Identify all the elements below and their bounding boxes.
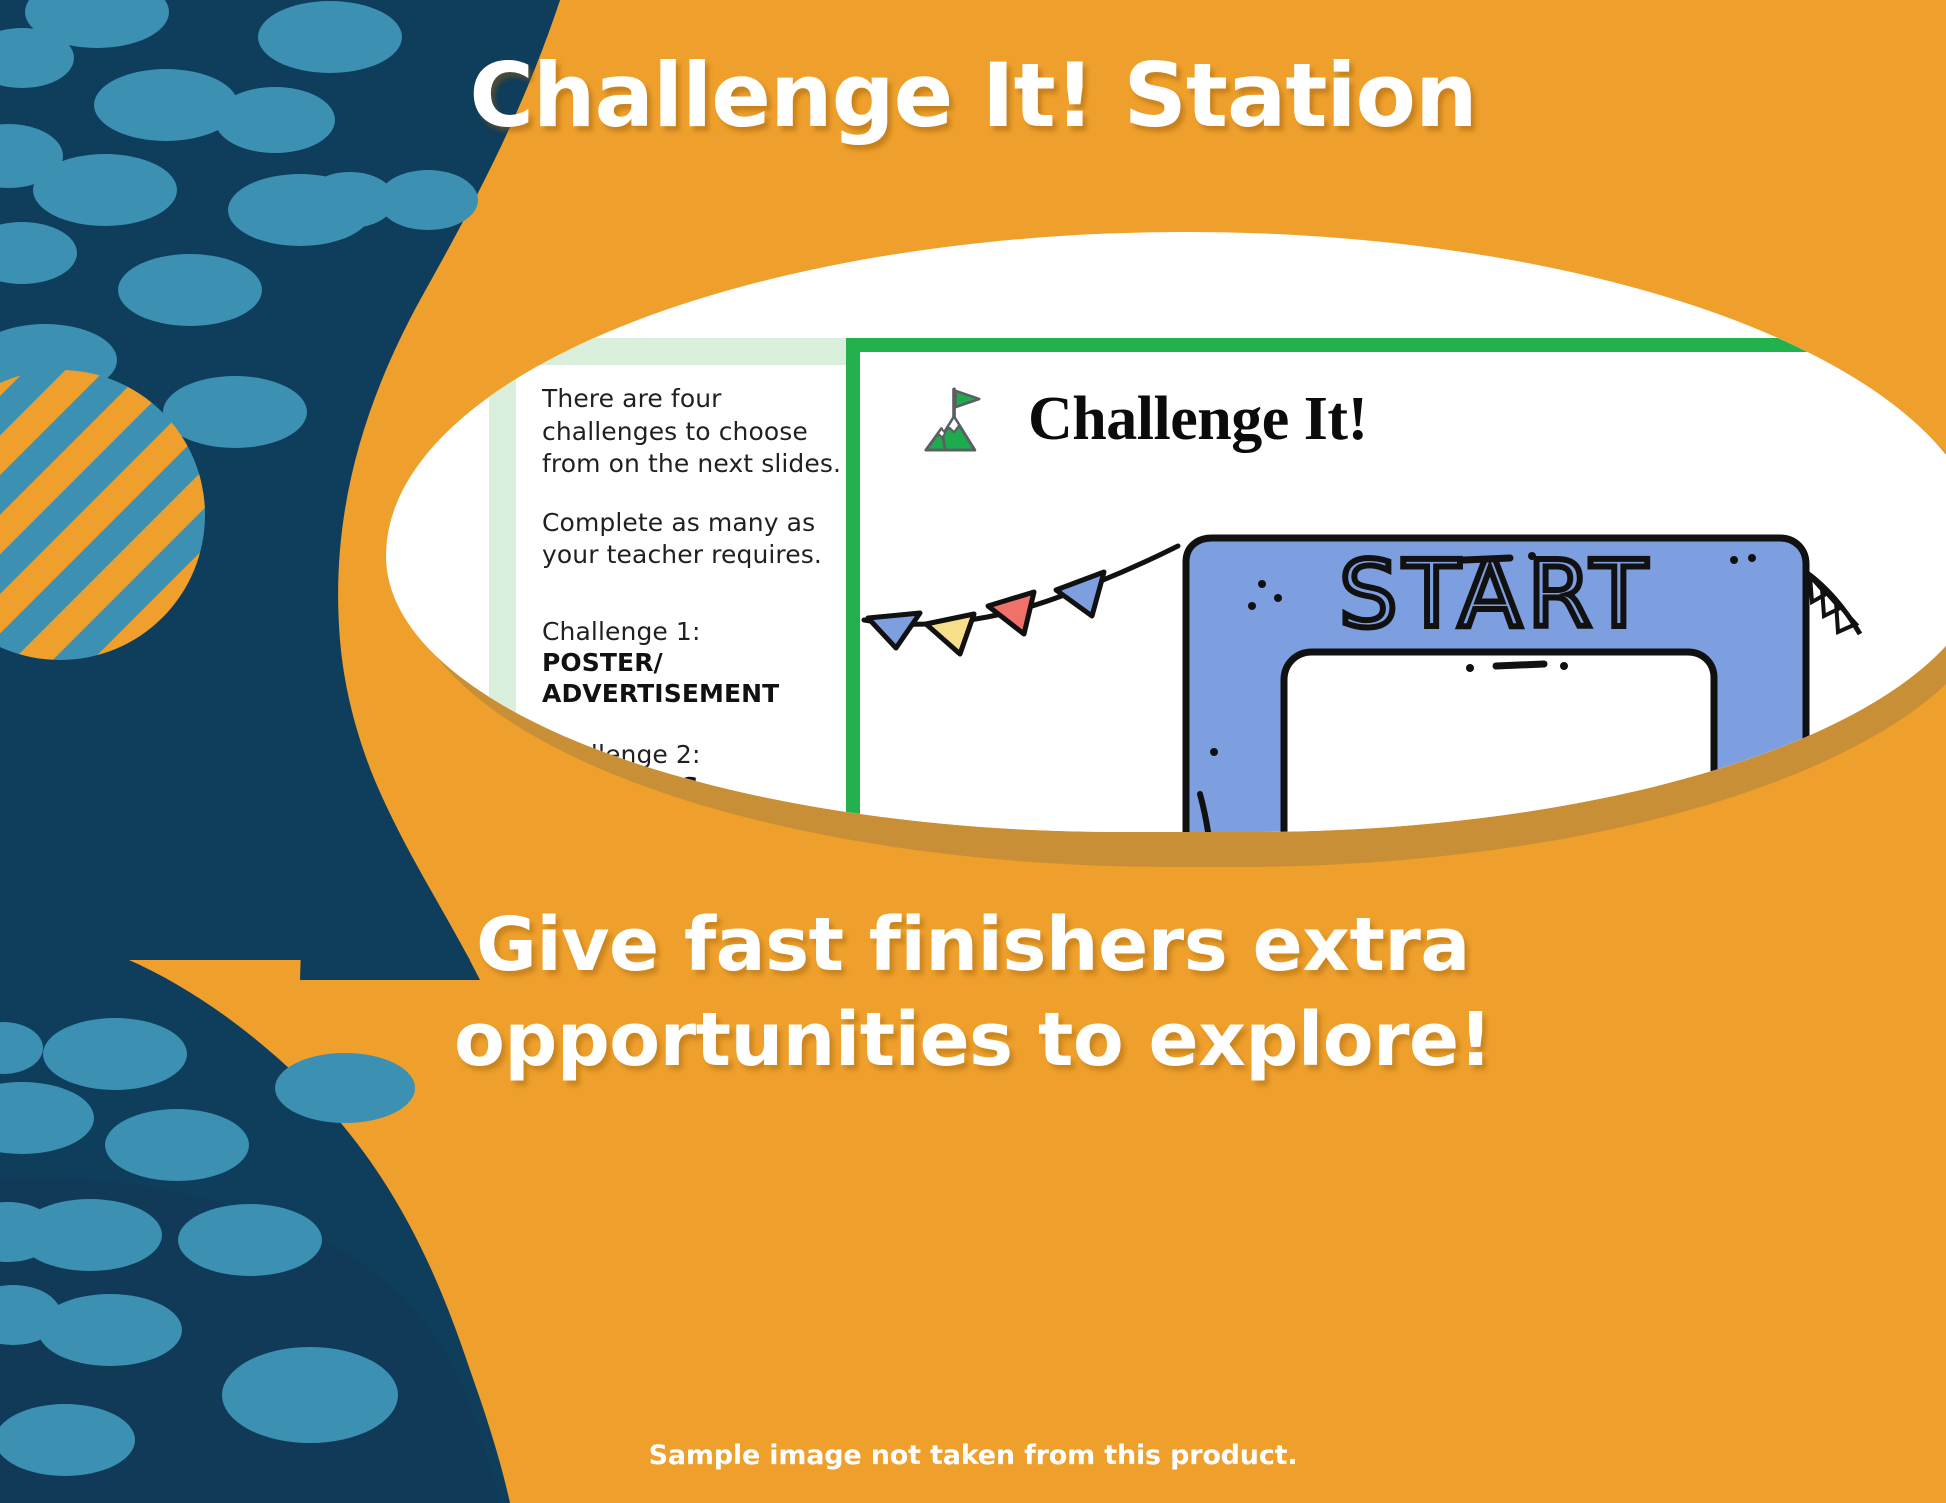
challenge-item-2: Challenge 2: SYMBIOSIS BOOKMARK — [542, 739, 846, 832]
slide-right-header: Challenge It! — [920, 382, 1368, 456]
disclaimer-note: Sample image not taken from this product… — [0, 1440, 1946, 1471]
slides-container: There are four challenges to choose from… — [489, 338, 1946, 832]
slide-right-left-border — [846, 338, 860, 832]
slide-left-content: There are four challenges to choose from… — [516, 365, 846, 832]
mountain-flag-icon — [920, 382, 994, 456]
slide-left: There are four challenges to choose from… — [489, 338, 846, 832]
slide-left-text: There are four challenges to choose from… — [542, 383, 846, 832]
challenge-1-label: Challenge 1: — [542, 616, 846, 649]
slide-right-heading: Challenge It! — [1028, 388, 1368, 450]
challenge-2-name-line2: BOOKMARK — [542, 802, 846, 832]
challenge-2-name-line1: SYMBIOSIS — [542, 772, 846, 803]
slide-right: Challenge It! — [846, 338, 1946, 832]
subtitle-line-1: Give fast finishers extra — [0, 898, 1946, 993]
slide-right-top-border — [846, 338, 1946, 352]
challenge-1-name-line1: POSTER/ — [542, 648, 846, 679]
challenge-1-name-line2: ADVERTISEMENT — [542, 679, 846, 710]
subtitle-line-2: opportunities to explore! — [0, 993, 1946, 1088]
challenge-item-1: Challenge 1: POSTER/ ADVERTISEMENT — [542, 616, 846, 710]
page-title: Challenge It! Station — [0, 44, 1946, 147]
start-arch-illustration: START — [860, 502, 1946, 832]
intro-paragraph-1: There are four challenges to choose from… — [542, 383, 846, 481]
page-subtitle: Give fast finishers extra opportunities … — [0, 898, 1946, 1087]
challenge-2-label: Challenge 2: — [542, 739, 846, 772]
poster-canvas: Challenge It! Station There are four cha… — [0, 0, 1946, 1503]
intro-paragraph-2: Complete as many as your teacher require… — [542, 507, 846, 572]
